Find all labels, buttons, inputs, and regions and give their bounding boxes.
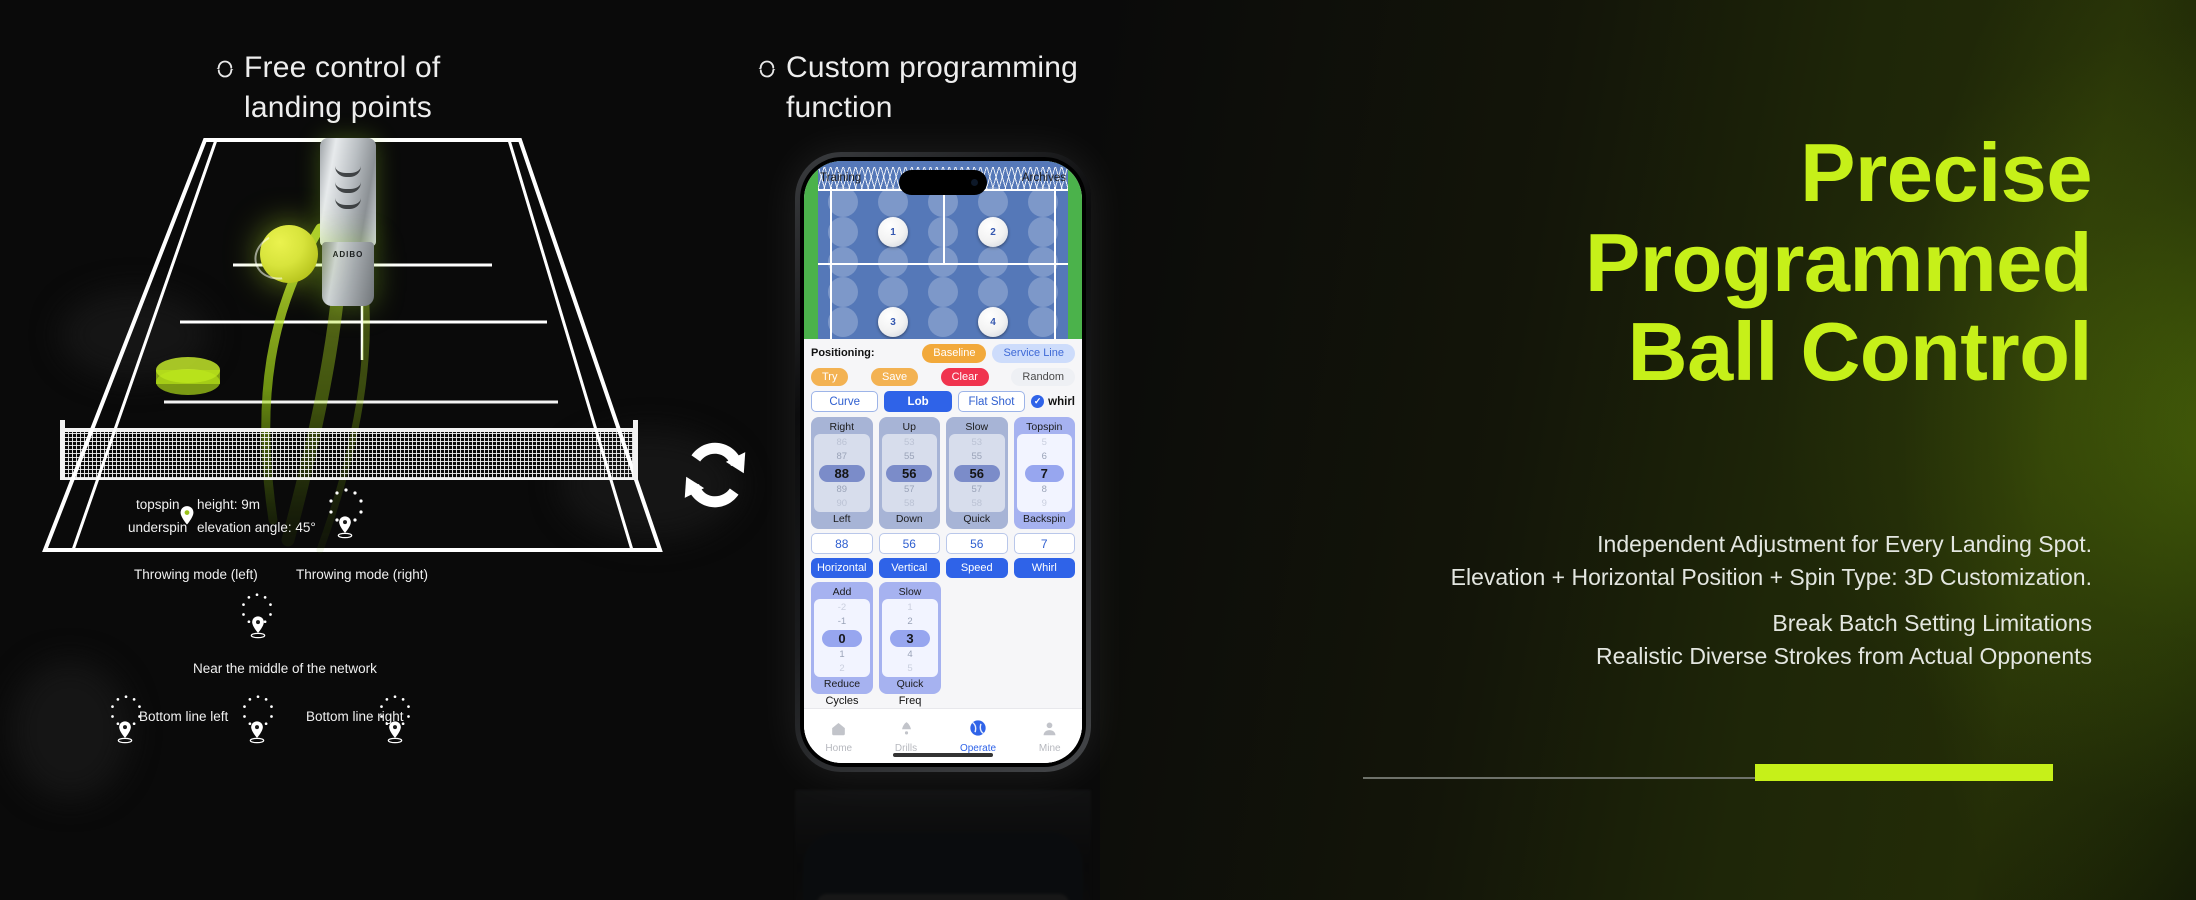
tab-archives[interactable]: Archives bbox=[1022, 172, 1066, 184]
value-horizontal[interactable]: 88 bbox=[811, 533, 873, 554]
sub-copy: Independent Adjustment for Every Landing… bbox=[1092, 528, 2092, 673]
home-icon bbox=[829, 719, 848, 741]
value-speed[interactable]: 56 bbox=[946, 533, 1008, 554]
tag-row: Horizontal Vertical Speed Whirl bbox=[811, 558, 1075, 578]
picker-value-above: -1 bbox=[838, 615, 846, 629]
picker-value-selected: 3 bbox=[890, 630, 929, 647]
picker-value-below2: 9 bbox=[1042, 497, 1047, 511]
landing-spot[interactable] bbox=[978, 247, 1008, 277]
picker-vertical[interactable]: Up 53 55 56 57 58 Down bbox=[879, 417, 941, 529]
landing-spot[interactable] bbox=[928, 307, 958, 337]
picker-value-below2: 58 bbox=[904, 497, 915, 511]
landing-spot[interactable] bbox=[1028, 187, 1058, 217]
picker-value-above: 55 bbox=[904, 450, 915, 464]
left-heading-line1: Free control of bbox=[244, 51, 440, 84]
annotation-elevation-angle: elevation angle: 45° bbox=[197, 520, 316, 535]
landing-spot[interactable] bbox=[978, 277, 1008, 307]
picker-freq[interactable]: Slow 1 2 3 4 5 Quick bbox=[879, 582, 941, 694]
picker-top-label: Topspin bbox=[1017, 420, 1073, 434]
landing-spot[interactable] bbox=[1028, 247, 1058, 277]
value-whirl[interactable]: 7 bbox=[1014, 533, 1076, 554]
landing-spot[interactable] bbox=[928, 277, 958, 307]
landing-spot-selected[interactable]: 4 bbox=[978, 307, 1008, 337]
tabbar-item-home[interactable]: Home bbox=[825, 719, 852, 754]
sub-line-3: Break Batch Setting Limitations bbox=[1092, 607, 2092, 640]
landing-pin-icon bbox=[247, 720, 269, 748]
phone-mockup: Training Customize Archives bbox=[795, 152, 1091, 772]
promo-banner: Free control of landing points Custom pr… bbox=[0, 0, 2196, 900]
sub-line-1: Independent Adjustment for Every Landing… bbox=[1092, 528, 2092, 561]
annotation-throwing-left: Throwing mode (left) bbox=[134, 567, 258, 582]
picker-horizontal[interactable]: Right 86 87 88 89 90 Left bbox=[811, 417, 873, 529]
picker-value-selected: 56 bbox=[886, 465, 932, 482]
picker-top-label: Slow bbox=[882, 585, 938, 599]
picker-top-label: Right bbox=[814, 420, 870, 434]
ball-machine: ADIBO bbox=[310, 138, 380, 308]
picker-value-below: 4 bbox=[907, 648, 912, 662]
landing-pin-icon bbox=[115, 720, 137, 748]
picker-value-below: 57 bbox=[904, 483, 915, 497]
landing-spot[interactable] bbox=[928, 247, 958, 277]
secondary-spinner-row: Add -2 -1 0 1 2 Reduce Slow bbox=[811, 582, 1075, 694]
try-button[interactable]: Try bbox=[811, 368, 848, 387]
picker-top-label: Slow bbox=[949, 420, 1005, 434]
landing-spot-selected[interactable]: 3 bbox=[878, 307, 908, 337]
net-post-left bbox=[60, 420, 65, 480]
landing-spot[interactable] bbox=[878, 277, 908, 307]
footer-freq: Freq bbox=[879, 695, 941, 707]
phone-notch bbox=[899, 170, 987, 195]
annotation-topspin: topspin bbox=[136, 497, 180, 512]
picker-cycles[interactable]: Add -2 -1 0 1 2 Reduce bbox=[811, 582, 873, 694]
picker-bottom-label: Left bbox=[814, 512, 870, 526]
landing-pin-icon bbox=[335, 515, 357, 543]
control-panel: Positioning: Baseline Service Line Try S… bbox=[804, 339, 1082, 763]
picker-value-below: 89 bbox=[836, 483, 847, 497]
secondary-footer-row: Cycles Freq bbox=[811, 695, 1075, 707]
middle-heading-line2: function bbox=[786, 88, 893, 128]
check-circle-icon: ✓ bbox=[1031, 395, 1044, 408]
picker-top-label: Up bbox=[882, 420, 938, 434]
phone-reflection: 1,20,4,22,1,25,2,26,3,24,2,8,18,13,16,11… bbox=[795, 790, 1091, 900]
camera-icon bbox=[971, 179, 978, 186]
picker-value-above2: 1 bbox=[907, 601, 912, 615]
tag-speed[interactable]: Speed bbox=[946, 558, 1008, 578]
landing-spot-grid[interactable]: 1 2 bbox=[818, 187, 1068, 335]
landing-pin-icon bbox=[248, 615, 270, 643]
positioning-label: Positioning: bbox=[811, 347, 875, 359]
picker-value-above: 87 bbox=[836, 450, 847, 464]
picker-bottom-label: Down bbox=[882, 512, 938, 526]
annotation-throwing-right: Throwing mode (right) bbox=[296, 567, 428, 582]
spinner-row: Right 86 87 88 89 90 Left Up bbox=[811, 417, 1075, 529]
tab-training[interactable]: Training bbox=[820, 172, 861, 184]
picker-value-below2: 2 bbox=[839, 662, 844, 676]
tennis-ball-icon bbox=[968, 718, 988, 741]
value-row: 88 56 56 7 bbox=[811, 533, 1075, 554]
picker-value-selected: 56 bbox=[954, 465, 1000, 482]
whirl-checkbox[interactable]: ✓ whirl bbox=[1031, 395, 1075, 408]
landing-spot[interactable] bbox=[828, 307, 858, 337]
headline: Precise Programmed Ball Control bbox=[1112, 128, 2092, 397]
picker-value-above2: -2 bbox=[838, 601, 846, 615]
picker-value-above: 6 bbox=[1042, 450, 1047, 464]
phone-screen: Training Customize Archives bbox=[804, 161, 1082, 763]
picker-value-below2: 90 bbox=[836, 497, 847, 511]
picker-value-selected: 7 bbox=[1025, 465, 1064, 482]
tabbar-item-operate[interactable]: Operate bbox=[960, 718, 996, 754]
landing-pin-icon bbox=[176, 505, 198, 533]
picker-value-above: 55 bbox=[971, 450, 982, 464]
landing-pin-icon bbox=[385, 720, 407, 748]
shot-type-curve[interactable]: Curve bbox=[811, 391, 878, 412]
landing-spot[interactable] bbox=[1028, 277, 1058, 307]
picker-value-above2: 53 bbox=[971, 436, 982, 450]
picker-bottom-label: Reduce bbox=[814, 677, 870, 691]
tabbar-label: Mine bbox=[1039, 743, 1061, 754]
shot-type-flat-shot[interactable]: Flat Shot bbox=[958, 391, 1025, 412]
tag-horizontal[interactable]: Horizontal bbox=[811, 558, 873, 578]
landing-spot-selected[interactable]: 1 bbox=[878, 217, 908, 247]
picker-value-below2: 58 bbox=[971, 497, 982, 511]
annotation-near-middle-net: Near the middle of the network bbox=[193, 661, 377, 676]
picker-bottom-label: Backspin bbox=[1017, 512, 1073, 526]
tabbar-label: Home bbox=[825, 743, 852, 754]
middle-heading-line1: Custom programming bbox=[786, 51, 1078, 84]
random-button[interactable]: Random bbox=[1011, 368, 1075, 387]
tennis-ball bbox=[260, 225, 318, 283]
landing-spot[interactable] bbox=[1028, 217, 1058, 247]
headline-line1: Precise bbox=[1112, 128, 2092, 218]
tag-vertical[interactable]: Vertical bbox=[879, 558, 941, 578]
picker-speed[interactable]: Slow 53 55 56 57 58 Quick bbox=[946, 417, 1008, 529]
machine-brand-label: ADIBO bbox=[310, 250, 386, 259]
save-button[interactable]: Save bbox=[871, 368, 918, 387]
machine-body bbox=[320, 138, 376, 246]
refresh-circle-icon bbox=[757, 50, 777, 70]
sub-line-2: Elevation + Horizontal Position + Spin T… bbox=[1092, 561, 2092, 594]
tag-whirl[interactable]: Whirl bbox=[1014, 558, 1076, 578]
picker-top-label: Add bbox=[814, 585, 870, 599]
picker-value-below2: 5 bbox=[907, 662, 912, 676]
picker-value-above2: 53 bbox=[904, 436, 915, 450]
left-heading: Free control of landing points bbox=[215, 48, 440, 127]
shot-type-lob[interactable]: Lob bbox=[884, 391, 951, 412]
baseline-button[interactable]: Baseline bbox=[922, 344, 986, 363]
headline-line2: Programmed bbox=[1112, 218, 2092, 308]
picker-value-above2: 86 bbox=[836, 436, 847, 450]
person-icon bbox=[1040, 719, 1059, 741]
annotation-bottom-line-left: Bottom line left bbox=[139, 709, 228, 724]
landing-spot[interactable] bbox=[828, 217, 858, 247]
clear-button[interactable]: Clear bbox=[941, 368, 989, 387]
tabbar-label: Drills bbox=[895, 743, 917, 754]
picker-value-above: 2 bbox=[907, 615, 912, 629]
drills-icon bbox=[897, 719, 916, 741]
tabbar-item-drills[interactable]: Drills bbox=[895, 719, 917, 754]
headline-line3: Ball Control bbox=[1112, 307, 2092, 397]
picker-value-below: 57 bbox=[971, 483, 982, 497]
landing-spot[interactable] bbox=[878, 247, 908, 277]
whirl-label: whirl bbox=[1048, 396, 1075, 408]
picker-value-below: 1 bbox=[839, 648, 844, 662]
landing-spot[interactable] bbox=[828, 277, 858, 307]
landing-spot[interactable] bbox=[828, 187, 858, 217]
progress-fill bbox=[1755, 764, 2053, 781]
picker-bottom-label: Quick bbox=[949, 512, 1005, 526]
landing-spot[interactable] bbox=[828, 247, 858, 277]
home-indicator bbox=[893, 753, 993, 757]
landing-spot[interactable] bbox=[1028, 307, 1058, 337]
picker-value-above2: 5 bbox=[1042, 436, 1047, 450]
middle-heading: Custom programming function bbox=[757, 48, 1078, 127]
service-line-button[interactable]: Service Line bbox=[992, 344, 1075, 363]
picker-value-below: 8 bbox=[1042, 483, 1047, 497]
picker-bottom-label: Quick bbox=[882, 677, 938, 691]
sub-line-4: Realistic Diverse Strokes from Actual Op… bbox=[1092, 640, 2092, 673]
tabbar-item-mine[interactable]: Mine bbox=[1039, 719, 1061, 754]
picker-value-selected: 0 bbox=[822, 630, 861, 647]
tennis-net bbox=[64, 428, 634, 480]
landing-spot[interactable] bbox=[928, 217, 958, 247]
footer-cycles: Cycles bbox=[811, 695, 873, 707]
actions-row: Try Save Clear Random bbox=[811, 368, 1075, 387]
tennis-court-diagram: ADIBO bbox=[20, 120, 700, 780]
value-vertical[interactable]: 56 bbox=[879, 533, 941, 554]
picker-spin[interactable]: Topspin 5 6 7 8 9 Backspin bbox=[1014, 417, 1076, 529]
refresh-circle-icon bbox=[215, 50, 235, 70]
net-post-right bbox=[633, 420, 638, 480]
landing-spot-selected[interactable]: 2 bbox=[978, 217, 1008, 247]
positioning-row: Positioning: Baseline Service Line bbox=[811, 344, 1075, 363]
shot-type-row: Curve Lob Flat Shot ✓ whirl bbox=[811, 391, 1075, 412]
picker-value-selected: 88 bbox=[819, 465, 865, 482]
sync-arrows-icon bbox=[668, 428, 762, 522]
annotation-height: height: 9m bbox=[197, 497, 260, 512]
